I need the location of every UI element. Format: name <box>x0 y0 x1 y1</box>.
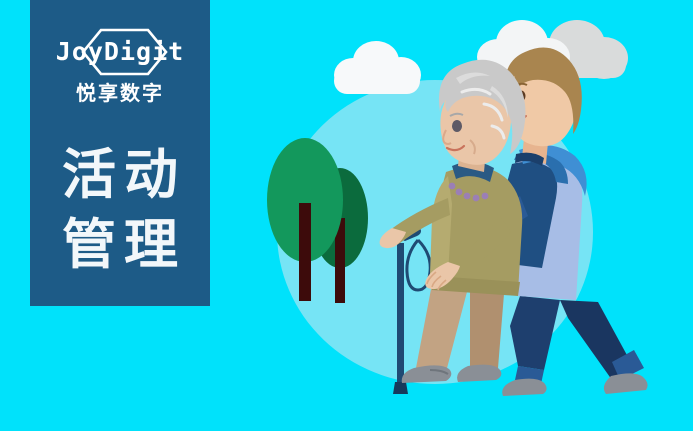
woman-eye <box>452 120 462 132</box>
logo-wordmark: JoyDigit <box>56 37 184 66</box>
tree-front-trunk <box>299 203 311 301</box>
page-title: 活动 管理 <box>30 140 210 280</box>
cane-tip <box>393 382 408 394</box>
page-title-line-2: 管理 <box>30 210 210 280</box>
woman-back-leg <box>470 290 504 368</box>
brand-chinese-name: 悦享数字 <box>76 82 164 104</box>
logo: JoyDigit <box>45 26 195 78</box>
poster-canvas: JoyDigit 悦享数字 活动 管理 <box>0 0 693 431</box>
brand-panel: JoyDigit 悦享数字 活动 管理 <box>30 0 210 306</box>
page-title-line-1: 活动 <box>30 140 210 210</box>
brand-block: JoyDigit 悦享数字 <box>30 26 210 104</box>
